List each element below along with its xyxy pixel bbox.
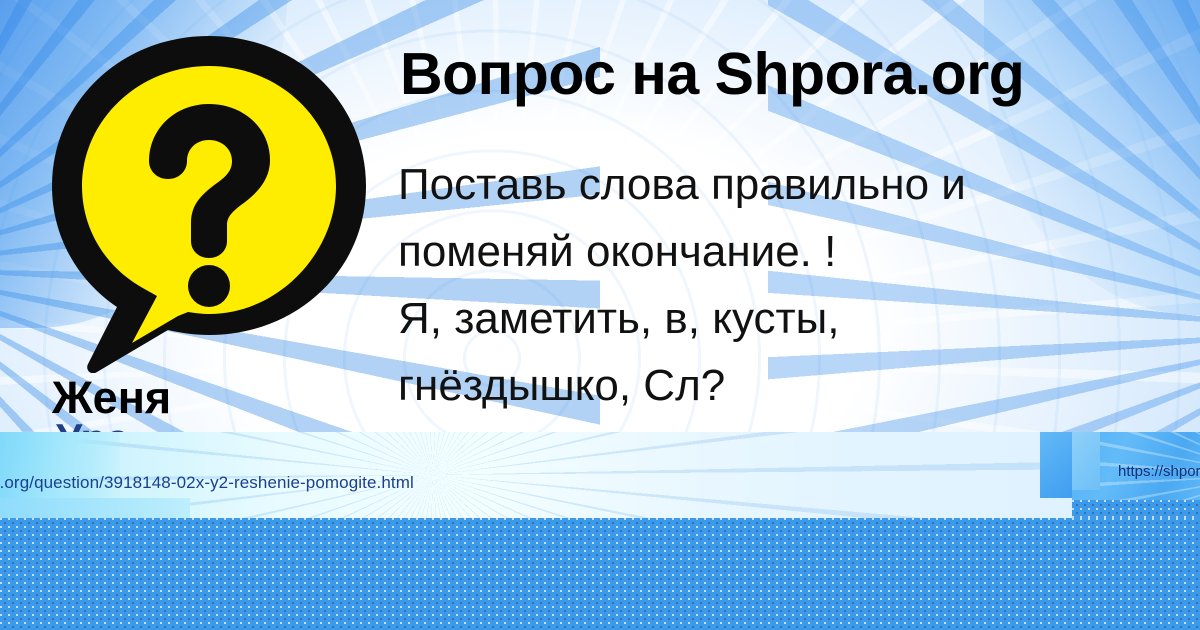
question-line-1: Поставь слова правильно и xyxy=(398,152,1198,219)
bottom-step xyxy=(0,498,190,520)
right-panel-notch-left xyxy=(1040,432,1074,498)
question-line-2: поменяй окончание. ! xyxy=(398,219,1198,286)
question-speech-bubble-icon xyxy=(44,28,374,373)
dotted-strip-bottom xyxy=(0,518,1200,630)
screenshot-canvas: Вопрос на Shpora.org Поставь слова прави… xyxy=(0,0,1200,630)
question-text: Поставь слова правильно и поменяй оконча… xyxy=(398,152,1198,420)
question-line-4: гнёздышко, Сл? xyxy=(398,353,1198,420)
url-text-left[interactable]: a.org/question/3918148-02x-y2-reshenie-p… xyxy=(0,473,414,493)
author-name: Женя xyxy=(52,375,171,420)
right-panel-notch xyxy=(1072,432,1100,490)
url-text-right[interactable]: https://shpora xyxy=(1118,463,1200,480)
page-title: Вопрос на Shpora.org xyxy=(400,44,1190,106)
question-line-3: Я, заметить, в, кусты, xyxy=(398,286,1198,353)
